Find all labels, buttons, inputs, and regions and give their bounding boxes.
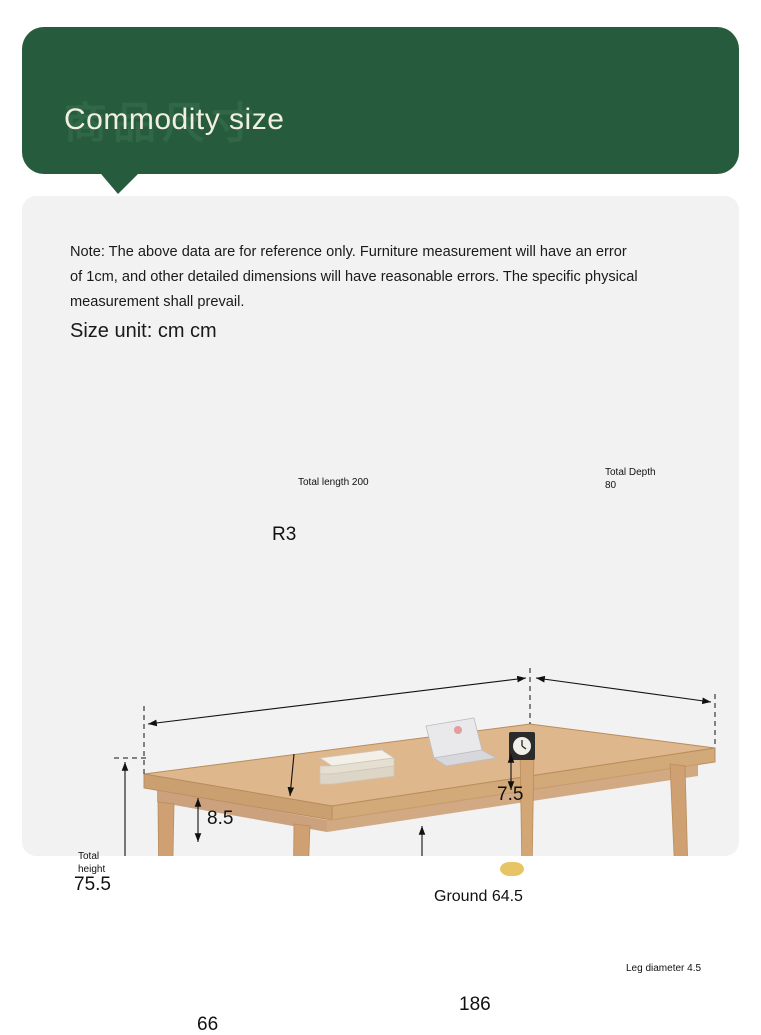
page-root: 商品尺寸 Commodity size Note: The above data… <box>0 0 761 878</box>
dim-total-height-label: Total height <box>78 850 105 876</box>
dim-leg-span-side: 186 <box>459 998 491 1011</box>
dim-total-length: Total length 200 <box>298 476 369 489</box>
size-unit-label: Size unit: cm cm <box>70 320 217 343</box>
disclaimer-note: Note: The above data are for reference o… <box>70 240 640 315</box>
dim-top-thickness: 7.5 <box>497 788 523 801</box>
content-card: Note: The above data are for reference o… <box>22 196 739 856</box>
dim-ground-clearance: Ground 64.5 <box>434 890 523 903</box>
dim-leg-span-front: 66 <box>197 1018 218 1031</box>
dim-total-depth-label: Total Depth <box>605 466 656 479</box>
header-banner: 商品尺寸 Commodity size <box>22 27 739 174</box>
dim-apron-drop: 8.5 <box>207 812 233 825</box>
banner-pointer <box>96 168 144 194</box>
decorative-object <box>500 862 524 876</box>
dim-radius: R3 <box>272 528 296 541</box>
dim-total-height-value: 75.5 <box>74 878 111 891</box>
dim-leg-diameter: Leg diameter 4.5 <box>626 962 701 975</box>
table-dimension-diagram: Total length 200 Total Depth 80 R3 8.5 7… <box>22 406 739 856</box>
page-title: Commodity size <box>64 103 284 137</box>
dim-total-depth-value: 80 <box>605 479 616 492</box>
